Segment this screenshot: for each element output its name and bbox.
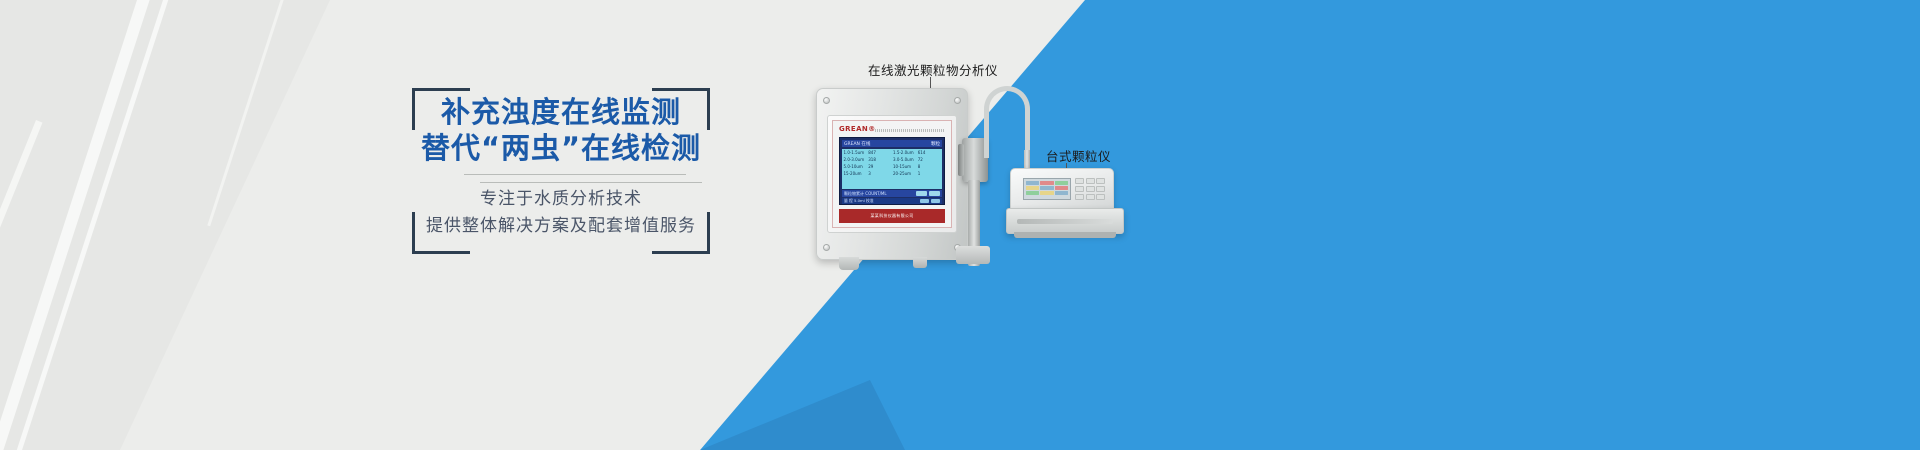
bench-display [1023, 178, 1071, 200]
hero-banner: 补充浊度在线监测 替代“两虫”在线检测 专注于水质分析技术 提供整体解决方案及配… [0, 0, 1920, 450]
keypad-key[interactable] [1096, 194, 1105, 200]
bench-display-row [1026, 181, 1069, 185]
sample-tube [984, 86, 1030, 158]
display-button[interactable] [916, 191, 927, 196]
display-button[interactable] [931, 199, 940, 203]
readout-row: 2.0-3.0um 318 3.0-5.0um 72 [844, 157, 941, 163]
readout-cell: 1.0-1.5um [844, 150, 867, 156]
readout-row: 1.0-1.5um 847 1.5-2.0um 614 [844, 150, 941, 156]
analyzer-footer-plate: 某某科技仪器有限公司 [839, 209, 945, 223]
display-toolbar-label: 颗粒物累计 COUNT/ML [844, 191, 914, 197]
divider-line-lower [480, 182, 702, 183]
bench-display-row [1026, 191, 1069, 195]
display-cell [1026, 186, 1039, 190]
readout-row: 15-20um 3 20-25um 1 [844, 171, 941, 177]
display-cell [1026, 191, 1039, 195]
display-title-left: GREAN 在线 [844, 141, 870, 147]
readout-cell: 72 [918, 157, 941, 163]
readout-cell: 8 [918, 164, 941, 170]
headline: 补充浊度在线监测 替代“两虫”在线检测 [412, 88, 710, 166]
readout-cell: 318 [868, 157, 891, 163]
headline-line-1: 补充浊度在线监测 [412, 94, 710, 130]
display-toolbar-secondary: 量 程 5.0ml 校准 [842, 198, 942, 204]
readout-cell: 614 [918, 150, 941, 156]
keypad-key[interactable] [1096, 178, 1105, 184]
readout-cell: 1.5-2.0um [893, 150, 916, 156]
readout-row: 5.0-10um 29 10-15um 8 [844, 164, 941, 170]
display-cell [1040, 181, 1053, 185]
display-readout-grid: 1.0-1.5um 847 1.5-2.0um 614 2.0-3.0um 31… [842, 149, 942, 189]
brand-rule [875, 129, 945, 132]
cable-gland-icon [839, 257, 859, 270]
bench-keypad[interactable] [1075, 178, 1105, 200]
bench-base [1006, 208, 1124, 234]
subtitle-line-1: 专注于水质分析技术 [412, 186, 710, 213]
analyzer-display: GREAN 在线 颗粒 1.0-1.5um 847 1.5-2.0um 614 [839, 137, 945, 205]
display-cell [1040, 191, 1053, 195]
display-cell [1040, 186, 1053, 190]
sensor-base [956, 246, 990, 264]
readout-cell: 1 [918, 171, 941, 177]
readout-cell: 847 [868, 150, 891, 156]
cable-gland-icon [913, 257, 927, 268]
subtitle-line-2: 提供整体解决方案及配套增值服务 [412, 213, 710, 240]
display-button[interactable] [929, 191, 940, 196]
analyzer-enclosure: GREAN® GREAN 在线 颗粒 1.0-1.5um 847 1.5-2.0… [816, 88, 968, 260]
bench-console [1010, 168, 1114, 212]
benchtop-particle-counter-image [1006, 168, 1124, 246]
display-titlebar: GREAN 在线 颗粒 [842, 140, 942, 147]
display-button[interactable] [920, 199, 929, 203]
screw-icon [823, 97, 830, 104]
screw-icon [954, 97, 961, 104]
headline-block: 补充浊度在线监测 替代“两虫”在线检测 专注于水质分析技术 提供整体解决方案及配… [412, 88, 710, 254]
online-particle-analyzer-image: GREAN® GREAN 在线 颗粒 1.0-1.5um 847 1.5-2.0… [816, 88, 968, 260]
readout-cell: 15-20um [844, 171, 867, 177]
display-cell [1026, 181, 1039, 185]
display-cell [1055, 191, 1068, 195]
bench-feet [1014, 232, 1116, 238]
display-cell [1055, 181, 1068, 185]
analyzer-faceplate: GREAN® GREAN 在线 颗粒 1.0-1.5um 847 1.5-2.0… [832, 120, 952, 228]
keypad-key[interactable] [1086, 194, 1095, 200]
brand-mark: GREAN® [839, 125, 876, 133]
headline-line-2: 替代“两虫”在线检测 [412, 130, 710, 166]
readout-cell: 29 [868, 164, 891, 170]
readout-cell: 3 [868, 171, 891, 177]
keypad-key[interactable] [1096, 186, 1105, 192]
keypad-key[interactable] [1086, 186, 1095, 192]
bench-display-row [1026, 186, 1069, 190]
readout-cell: 2.0-3.0um [844, 157, 867, 163]
bench-vent-slot [1017, 219, 1113, 224]
display-cell [1055, 186, 1068, 190]
keypad-key[interactable] [1075, 194, 1084, 200]
keypad-key[interactable] [1075, 178, 1084, 184]
readout-cell: 3.0-5.0um [893, 157, 916, 163]
analyzer-window: GREAN® GREAN 在线 颗粒 1.0-1.5um 847 1.5-2.0… [827, 115, 957, 233]
readout-cell: 20-25um [893, 171, 916, 177]
readout-cell: 5.0-10um [844, 164, 867, 170]
keypad-key[interactable] [1086, 178, 1095, 184]
display-toolbar: 颗粒物累计 COUNT/ML [842, 190, 942, 197]
display-title-right: 颗粒 [931, 141, 940, 147]
divider-group [412, 170, 710, 186]
readout-cell: 10-15um [893, 164, 916, 170]
display-toolbar2-label: 量 程 5.0ml 校准 [844, 198, 918, 204]
divider-line-upper [464, 174, 686, 175]
keypad-key[interactable] [1075, 186, 1084, 192]
screw-icon [823, 244, 830, 251]
